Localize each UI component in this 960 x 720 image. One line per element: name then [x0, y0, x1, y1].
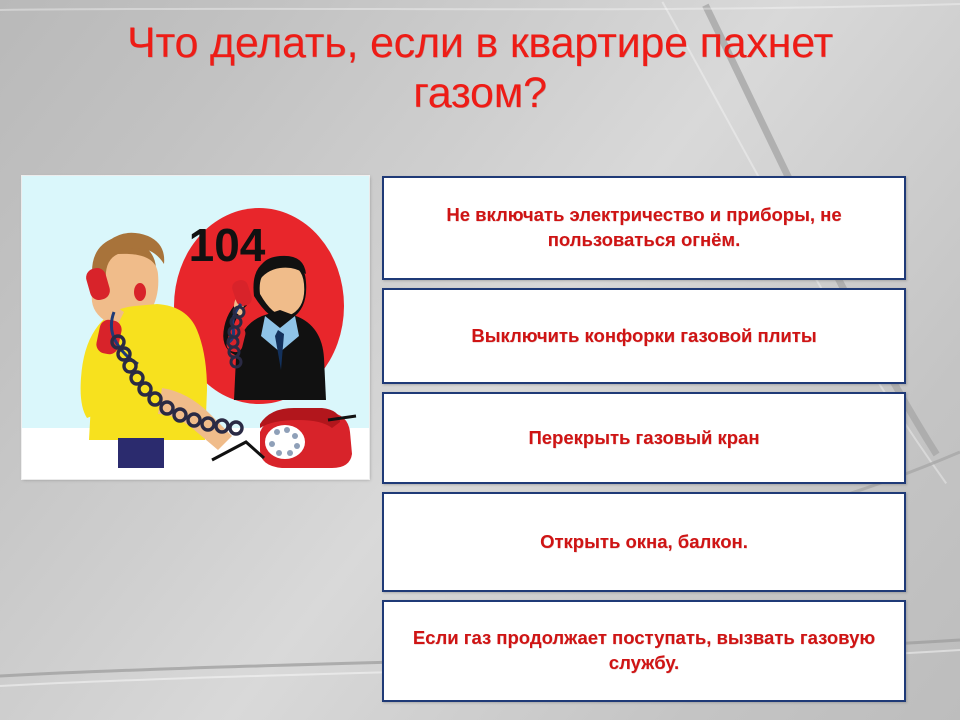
slide: Что делать, если в квартире пахнет газом…: [0, 0, 960, 720]
illustration-artwork: 104: [22, 176, 369, 479]
step-box[interactable]: Открыть окна, балкон.: [382, 492, 906, 592]
step-text: Перекрыть газовый кран: [512, 426, 775, 451]
step-text: Не включать электричество и приборы, не …: [384, 203, 904, 252]
page-title: Что делать, если в квартире пахнет газом…: [0, 18, 960, 119]
step-box[interactable]: Выключить конфорки газовой плиты: [382, 288, 906, 384]
step-box[interactable]: Если газ продолжает поступать, вызвать г…: [382, 600, 906, 702]
step-text: Выключить конфорки газовой плиты: [455, 324, 832, 349]
svg-text:104: 104: [189, 219, 266, 271]
step-text: Открыть окна, балкон.: [524, 530, 764, 555]
step-box[interactable]: Перекрыть газовый кран: [382, 392, 906, 484]
step-text: Если газ продолжает поступать, вызвать г…: [384, 626, 904, 675]
illustration-man-calling-104: 104: [22, 176, 369, 479]
step-box[interactable]: Не включать электричество и приборы, не …: [382, 176, 906, 280]
